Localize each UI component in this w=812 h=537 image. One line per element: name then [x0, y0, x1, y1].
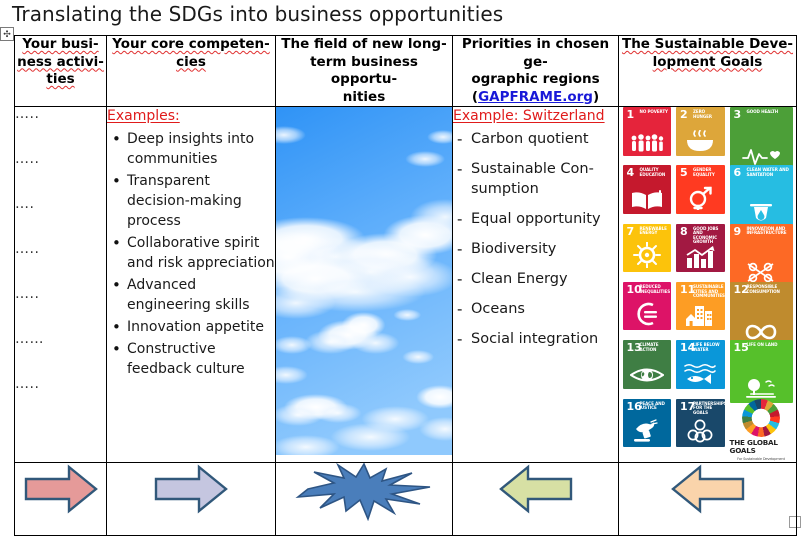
sdg-icon-16[interactable]: 16 PEACE AND JUSTICE [623, 399, 672, 448]
arrow-left-icon[interactable] [498, 463, 574, 515]
sdg-name: QUALITY EDUCATION [640, 168, 670, 177]
sdg-number: 6 [734, 167, 742, 178]
sdg-number: 5 [680, 167, 688, 178]
sdg-name: PEACE AND JUSTICE [640, 402, 670, 411]
sdg-number: 4 [627, 167, 635, 178]
dove-gavel-icon [631, 419, 663, 443]
sdg-icon-14[interactable]: 14 LIFE BELOW WATER [676, 340, 725, 389]
sdg-name: CLEAN WATER AND SANITATION [747, 168, 791, 177]
sdg-icon-10[interactable]: 10 REDUCED INEQUALITIES [623, 282, 672, 331]
sdg-number: 8 [680, 226, 688, 237]
priorities-list: Carbon quotient Sustainable Con-sumption… [453, 129, 618, 349]
header-line: lopment Goals [653, 54, 763, 70]
list-item: ….. [15, 287, 106, 332]
list-item: Deep insights into communities [127, 129, 275, 169]
list-item: Social integration [471, 329, 618, 349]
sdg-icon-15[interactable]: 15 LIFE ON LAND [730, 340, 793, 403]
list-item: Sustainable Con-sumption [471, 159, 618, 199]
pulse-heart-icon [742, 146, 780, 166]
header-line: ness activi- [17, 54, 104, 70]
sdg-icon-6[interactable]: 6 CLEAN WATER AND SANITATION [730, 165, 793, 228]
cell-arrow-business-activities [15, 462, 107, 535]
sun-icon [633, 242, 661, 268]
sdg-number: 2 [680, 109, 688, 120]
header-sdgs: The Sustainable Deve- lopment Goals [619, 36, 797, 107]
page-title: Translating the SDGs into business oppor… [12, 1, 503, 27]
sdg-icon-2[interactable]: 2 ZERO HUNGER [676, 107, 725, 156]
sdg-icon-17[interactable]: 17 PARTNERSHIPS FOR THE GOALS [676, 399, 725, 448]
cell-priorities: Example: Switzerland Carbon quotient Sus… [453, 107, 619, 463]
slide-canvas: Translating the SDGs into business oppor… [0, 0, 812, 537]
arrow-left-icon[interactable] [670, 463, 746, 515]
list-item: ….. [15, 152, 106, 197]
table-body-row: ….. ….. …. ….. ….. …… ….. Examples: Deep… [15, 107, 797, 463]
infinity-icon [744, 323, 778, 341]
list-item: ….. [15, 377, 106, 422]
sdg-icon-1[interactable]: 1 NO POVERTY [623, 107, 672, 156]
header-priorities-regions: Priorities in chosen ge- ographic region… [453, 36, 619, 107]
global-goals-subtitle: For Sustainable Development [737, 457, 785, 462]
global-goals-logo: THE GLOBAL GOALS For Sustainable Develop… [730, 399, 793, 462]
sdg-icon-grid: 1 NO POVERTY 2 Z [623, 107, 793, 462]
header-line: Your busi- [22, 36, 98, 52]
list-item: Collaborative spirit and risk appreciati… [127, 233, 275, 273]
arrow-right-icon[interactable] [23, 463, 99, 515]
infrastructure-blocks-icon [746, 261, 776, 283]
table-move-handle[interactable]: ✣ [0, 27, 14, 41]
list-item: Equal opportunity [471, 209, 618, 229]
sdg-name: INNOVATION AND INFRASTRUCTURE [747, 227, 791, 236]
example-switzerland-label: Example: Switzerland [453, 107, 618, 126]
sdg-icon-4[interactable]: 4 QUALITY EDUCATION [623, 165, 672, 214]
sdg-number: 7 [627, 226, 635, 237]
sdg-name: GENDER EQUALITY [693, 168, 723, 177]
climate-eye-globe-icon [630, 365, 664, 385]
header-line: ties [46, 71, 74, 87]
people-icon [629, 134, 665, 152]
sdg-name: SUSTAINABLE CITIES AND COMMUNITIES [693, 285, 723, 299]
sdg-name: REDUCED INEQUALITIES [640, 285, 670, 294]
header-line: The field of new long- [281, 36, 446, 52]
sdg-icon-13[interactable]: 13 CLIMATE ACTION [623, 340, 672, 389]
tree-land-icon [744, 377, 778, 399]
header-line: nities [343, 89, 386, 105]
sdg-name: LIFE ON LAND [747, 343, 791, 348]
header-line: The Sustainable Deve- [622, 36, 793, 52]
header-core-competencies: Your core competen- cies [107, 36, 276, 107]
cell-sdgs: 1 NO POVERTY 2 Z [619, 107, 797, 463]
cell-arrow-sdgs [619, 462, 797, 535]
cell-arrow-new-opportunities [276, 462, 453, 535]
list-item: Biodiversity [471, 239, 618, 259]
reduced-inequalities-icon [634, 302, 660, 326]
arrow-right-icon[interactable] [153, 463, 229, 515]
sdg-name: PARTNERSHIPS FOR THE GOALS [693, 402, 723, 416]
city-buildings-icon [684, 304, 716, 326]
list-item: Transparent decision-making process [127, 171, 275, 231]
sdg-name: LIFE BELOW WATER [693, 343, 723, 352]
paren-close: ) [593, 89, 599, 105]
header-line: Your core competen- [112, 36, 270, 52]
header-line: cies [176, 54, 206, 70]
list-item: Constructive feedback culture [127, 339, 275, 379]
sdg-icon-11[interactable]: 11 SUSTAINABLE CITIES AND COMMUNITIES [676, 282, 725, 331]
list-item: Advanced engineering skills [127, 275, 275, 315]
sdg-number: 1 [627, 109, 635, 120]
sky-clouds-image [276, 107, 452, 455]
global-goals-title: THE GLOBAL GOALS [730, 439, 793, 455]
explosion-icon[interactable] [294, 463, 434, 521]
sdg-icon-9[interactable]: 9 INNOVATION AND INFRASTRUCTURE [730, 224, 793, 287]
sdg-icon-7[interactable]: 7 RENEWABLE ENERGY [623, 224, 672, 273]
competencies-list: Deep insights into communities Transpare… [107, 129, 275, 379]
bowl-icon [684, 130, 716, 152]
sdg-number: 3 [734, 109, 742, 120]
list-item: Carbon quotient [471, 129, 618, 149]
list-item: …. [15, 197, 106, 242]
opportunities-table: Your busi- ness activi- ties Your core c… [14, 35, 797, 536]
sdg-icon-3[interactable]: 3 GOOD HEALTH [730, 107, 793, 170]
cell-arrow-core-competencies [107, 462, 276, 535]
cell-core-competencies: Examples: Deep insights into communities… [107, 107, 276, 463]
examples-label: Examples: [107, 107, 275, 126]
list-item: ….. [15, 107, 106, 152]
sdg-name: GOOD HEALTH [747, 110, 791, 115]
table-arrow-row [15, 462, 797, 535]
list-item: Innovation appetite [127, 317, 275, 337]
header-line: Priorities in chosen ge- [462, 36, 609, 70]
list-item: Clean Energy [471, 269, 618, 289]
table-header-row: Your busi- ness activi- ties Your core c… [15, 36, 797, 107]
open-book-icon [630, 190, 664, 210]
sdg-name: GOOD JOBS AND ECONOMIC GROWTH [693, 227, 723, 245]
sdg-name: RESPONSIBLE CONSUMPTION [747, 285, 791, 294]
cell-arrow-priorities [453, 462, 619, 535]
header-new-opportunities: The field of new long- term business opp… [276, 36, 453, 107]
sdg-colour-wheel-icon [742, 399, 780, 437]
sdg-name: NO POVERTY [640, 110, 670, 115]
header-line: term business opportu- [310, 54, 418, 88]
cell-new-opportunities [276, 107, 453, 463]
sdg-name: CLIMATE ACTION [640, 343, 670, 352]
list-item: Oceans [471, 299, 618, 319]
cell-business-activities: ….. ….. …. ….. ….. …… ….. [15, 107, 107, 463]
partnership-rings-icon [686, 419, 714, 443]
list-item: …… [15, 332, 106, 377]
sdg-name: RENEWABLE ENERGY [640, 227, 670, 236]
gender-equality-icon [685, 186, 715, 210]
fish-waves-icon [683, 363, 717, 385]
header-line: ographic regions [471, 71, 599, 87]
list-item: ….. [15, 242, 106, 287]
sdg-icon-5[interactable]: 5 GENDER EQUALITY [676, 165, 725, 214]
gapframe-link[interactable]: GAPFRAME.org [478, 89, 593, 105]
sdg-number: 9 [734, 226, 742, 237]
sdg-icon-12[interactable]: 12 RESPONSIBLE CONSUMPTION [730, 282, 793, 345]
header-business-activities: Your busi- ness activi- ties [15, 36, 107, 107]
sdg-icon-8[interactable]: 8 GOOD JOBS AND ECONOMIC GROWTH [676, 224, 725, 273]
growth-chart-icon [684, 246, 716, 268]
sdg-name: ZERO HUNGER [693, 110, 723, 119]
water-drop-icon [747, 202, 775, 224]
